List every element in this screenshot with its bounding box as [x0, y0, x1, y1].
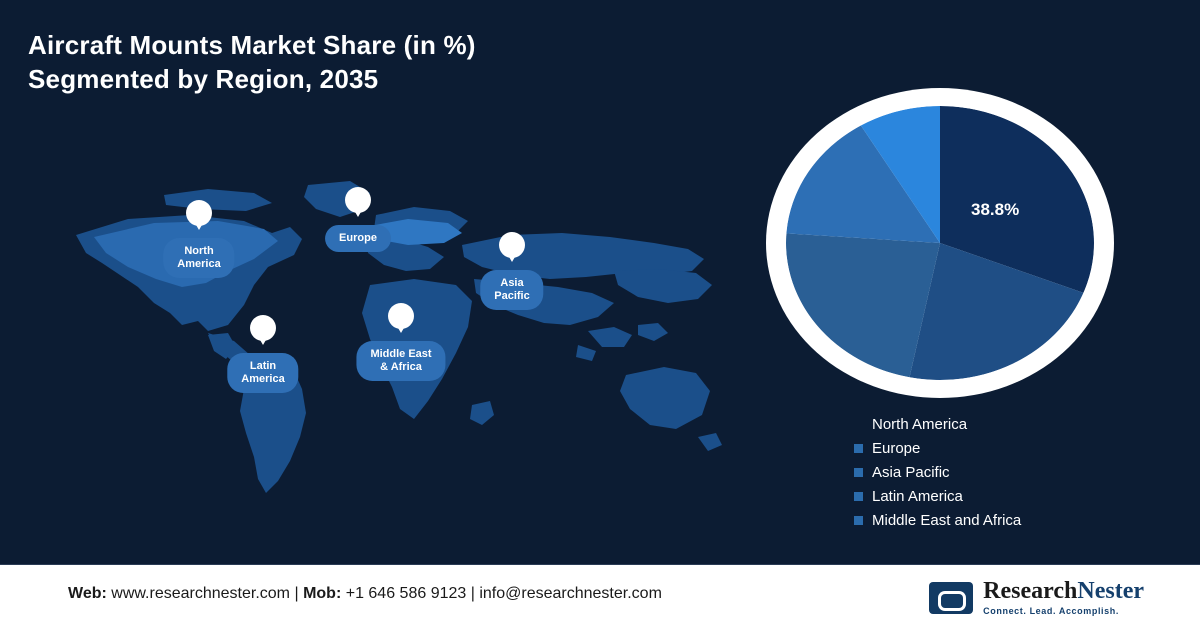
footer-mob-label: Mob: — [303, 585, 341, 602]
map-pin-latin-america[interactable]: Latin America — [250, 315, 276, 341]
map-pin-asia-pacific[interactable]: Asia Pacific — [499, 232, 525, 258]
legend-item-north-america[interactable]: North America — [854, 412, 1021, 436]
footer-web-value[interactable]: www.researchnester.com — [111, 585, 290, 602]
legend-swatch-europe — [854, 444, 863, 453]
map-pin-label-asia-pacific: Asia Pacific — [480, 270, 543, 310]
pie-chart: 38.8% — [766, 88, 1114, 398]
chart-legend: North America Europe Asia Pacific Latin … — [854, 412, 1021, 532]
map-pin-north-america[interactable]: North America — [186, 200, 212, 226]
map-pin-dot-icon — [250, 315, 276, 341]
map-pin-europe[interactable]: Europe — [345, 187, 371, 213]
map-pin-label-middle-east-africa: Middle East & Africa — [356, 341, 445, 381]
footer-web-label: Web: — [68, 585, 107, 602]
legend-label-europe: Europe — [872, 440, 920, 457]
legend-label-north-america: North America — [872, 416, 967, 433]
brand-mark-icon — [929, 582, 973, 614]
page-title: Aircraft Mounts Market Share (in %) Segm… — [28, 28, 748, 96]
legend-label-latin-america: Latin America — [872, 488, 963, 505]
footer-bar: Web: www.researchnester.com | Mob: +1 64… — [0, 565, 1200, 628]
pie-data-label-north-america: 38.8% — [971, 200, 1019, 220]
legend-item-asia-pacific[interactable]: Asia Pacific — [854, 460, 1021, 484]
footer-separator-2: | — [471, 585, 475, 602]
title-line-1: Aircraft Mounts Market Share (in %) — [28, 28, 748, 62]
brand-name-part-1: Research — [983, 578, 1077, 604]
world-map: North America Europe Asia Pacific Latin … — [58, 175, 738, 505]
footer-separator-1: | — [294, 585, 298, 602]
map-pin-dot-icon — [345, 187, 371, 213]
map-pin-dot-icon — [186, 200, 212, 226]
footer-email[interactable]: info@researchnester.com — [479, 585, 662, 602]
legend-item-europe[interactable]: Europe — [854, 436, 1021, 460]
footer-mob-value: +1 646 586 9123 — [346, 585, 467, 602]
brand-name-part-2: Nester — [1077, 578, 1144, 604]
pie-slices — [786, 106, 1094, 380]
legend-swatch-asia-pacific — [854, 468, 863, 477]
legend-swatch-north-america — [854, 420, 863, 429]
map-pin-label-europe: Europe — [325, 225, 391, 252]
footer-contact: Web: www.researchnester.com | Mob: +1 64… — [68, 585, 662, 603]
map-pin-label-latin-america: Latin America — [227, 353, 298, 393]
legend-swatch-latin-america — [854, 492, 863, 501]
brand-name: ResearchNester — [983, 579, 1144, 603]
legend-label-asia-pacific: Asia Pacific — [872, 464, 950, 481]
legend-swatch-middle-east-africa — [854, 516, 863, 525]
legend-item-middle-east-africa[interactable]: Middle East and Africa — [854, 508, 1021, 532]
legend-item-latin-america[interactable]: Latin America — [854, 484, 1021, 508]
brand-logo: ResearchNester Connect. Lead. Accomplish… — [929, 579, 1144, 616]
legend-label-middle-east-africa: Middle East and Africa — [872, 512, 1021, 529]
map-pin-dot-icon — [499, 232, 525, 258]
map-pin-label-north-america: North America — [163, 238, 234, 278]
brand-tagline: Connect. Lead. Accomplish. — [983, 606, 1144, 616]
map-pin-dot-icon — [388, 303, 414, 329]
slide-canvas: Aircraft Mounts Market Share (in %) Segm… — [0, 0, 1200, 628]
map-pin-middle-east-africa[interactable]: Middle East & Africa — [388, 303, 414, 329]
title-line-2: Segmented by Region, 2035 — [28, 62, 748, 96]
